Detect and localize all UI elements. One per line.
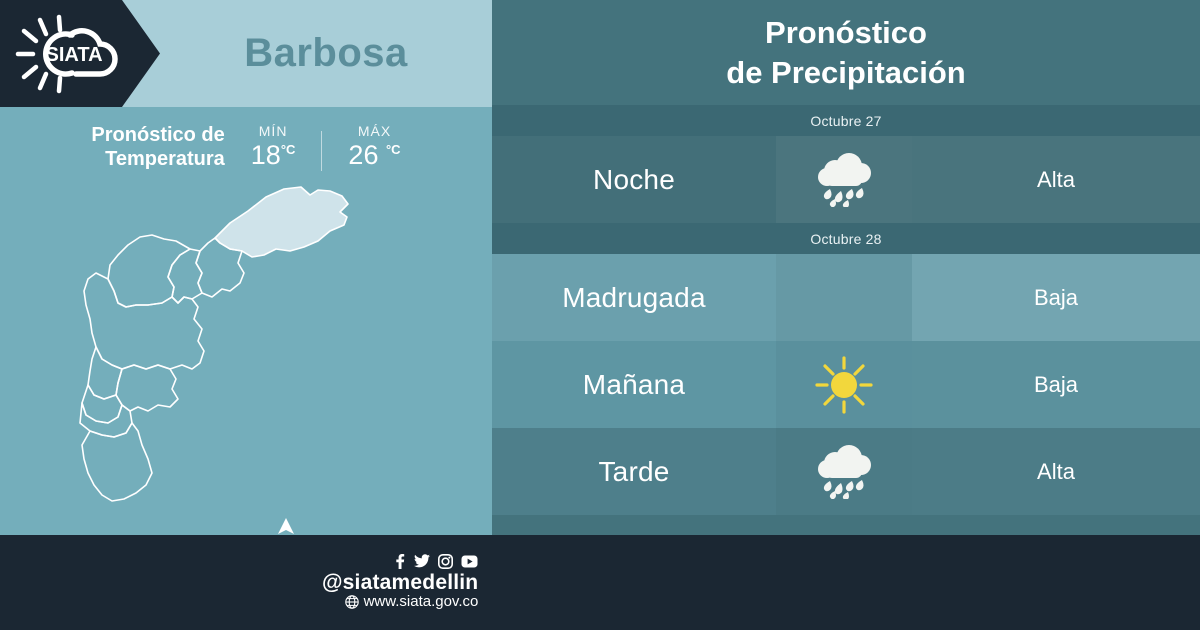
forecast-period: Tarde bbox=[492, 428, 776, 515]
map-region-bello bbox=[108, 235, 190, 307]
temperature-min-value: 18°C bbox=[251, 140, 296, 171]
website-label: www.siata.gov.co bbox=[364, 594, 479, 611]
forecast-period: Madrugada bbox=[492, 254, 776, 341]
temperature-forecast: Pronóstico de Temperatura MÍN 18°C MÁX 2… bbox=[0, 107, 492, 187]
precipitation-title: Pronóstico de Precipitación bbox=[492, 0, 1200, 105]
temperature-min-label: MÍN bbox=[251, 123, 296, 139]
youtube-icon[interactable] bbox=[461, 555, 478, 568]
forecast-level: Baja bbox=[912, 254, 1200, 341]
temperature-max: MÁX 26 °C bbox=[348, 123, 400, 171]
instagram-icon[interactable] bbox=[438, 554, 453, 569]
rain-cloud-icon bbox=[776, 428, 912, 515]
forecast-row: Madrugada Baja bbox=[492, 254, 1200, 341]
map-region-medellin bbox=[84, 273, 204, 369]
precipitation-title-line2: de Precipitación bbox=[726, 53, 965, 93]
forecast-row: Tarde Alta bbox=[492, 428, 1200, 515]
forecast-level: Alta bbox=[912, 136, 1200, 223]
facebook-icon[interactable] bbox=[393, 554, 406, 569]
page-title: Barbosa bbox=[160, 0, 492, 107]
forecast-row: Noche Alta bbox=[492, 136, 1200, 223]
forecast-period: Mañana bbox=[492, 341, 776, 428]
forecast-row: Mañana Baja bbox=[492, 341, 1200, 428]
sun-icon bbox=[776, 341, 912, 428]
temperature-max-value: 26 °C bbox=[348, 140, 400, 171]
temperature-divider bbox=[321, 131, 322, 171]
sun-cloud-icon: SIATA bbox=[14, 14, 134, 94]
map-region-la-estrella bbox=[80, 403, 132, 437]
map-region-barbosa bbox=[215, 187, 348, 257]
precipitation-title-line1: Pronóstico bbox=[765, 13, 927, 53]
infographic-root: SIATA Barbosa Pronóstico de Temperatura … bbox=[0, 0, 1200, 630]
rain-cloud-icon bbox=[776, 136, 912, 223]
temperature-max-unit: °C bbox=[386, 142, 401, 157]
twitter-icon[interactable] bbox=[414, 554, 430, 569]
siata-logo-text: SIATA bbox=[45, 44, 102, 66]
temperature-min: MÍN 18°C bbox=[251, 123, 296, 171]
date-band-oct28: Octubre 28 bbox=[492, 223, 1200, 254]
map-region-envigado bbox=[116, 365, 178, 411]
left-panel: SIATA Barbosa Pronóstico de Temperatura … bbox=[0, 0, 492, 535]
moon-icon bbox=[776, 254, 912, 341]
forecast-period: Noche bbox=[492, 136, 776, 223]
left-header: SIATA Barbosa bbox=[0, 0, 492, 107]
map-region-itagui bbox=[88, 347, 122, 399]
forecast-level: Baja bbox=[912, 341, 1200, 428]
temperature-max-label: MÁX bbox=[348, 123, 400, 139]
temperature-title-line1: Pronóstico de bbox=[91, 123, 224, 147]
footer: @siatamedellin www.siata.gov.co Con el a… bbox=[0, 535, 1200, 630]
siata-logo-badge: SIATA bbox=[0, 0, 160, 107]
social-block: @siatamedellin www.siata.gov.co bbox=[322, 554, 478, 611]
precipitation-panel: Pronóstico de Precipitación Octubre 27 N… bbox=[492, 0, 1200, 535]
map-region-caldas bbox=[82, 423, 152, 501]
globe-icon bbox=[345, 595, 359, 609]
forecast-level: Alta bbox=[912, 428, 1200, 515]
social-handle[interactable]: @siatamedellin bbox=[322, 572, 478, 594]
temperature-title: Pronóstico de Temperatura bbox=[91, 123, 224, 172]
website-row[interactable]: www.siata.gov.co bbox=[322, 594, 478, 611]
temperature-min-unit: °C bbox=[281, 142, 296, 157]
temperature-title-line2: Temperatura bbox=[91, 147, 224, 171]
aburra-valley-map bbox=[52, 179, 392, 529]
social-icons bbox=[322, 554, 478, 569]
municipality-map: N bbox=[0, 187, 492, 535]
north-arrow-icon bbox=[276, 517, 296, 535]
date-band-oct27: Octubre 27 bbox=[492, 105, 1200, 136]
